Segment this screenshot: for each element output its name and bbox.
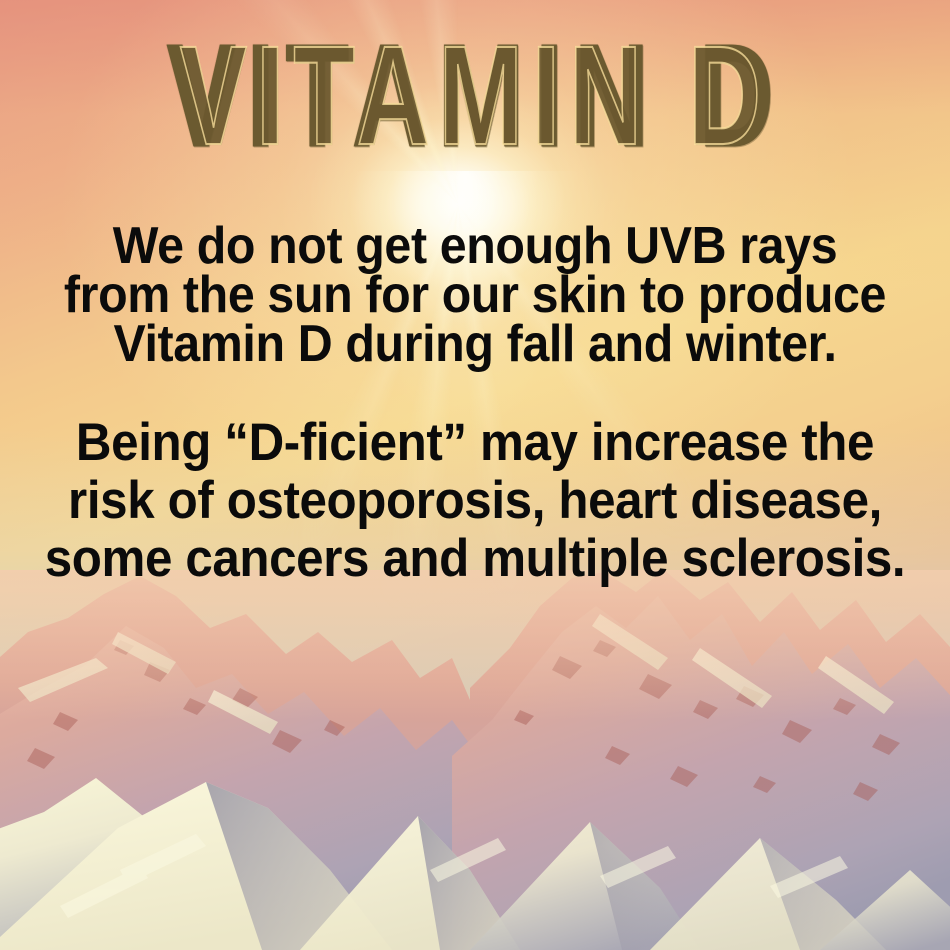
paragraph-line: Being “D-ficient” may increase the xyxy=(33,414,917,472)
page-title-text: VITAMIN D xyxy=(166,13,784,178)
paragraph-line: from the sun for our skin to produce xyxy=(33,271,917,320)
paragraph-line: some cancers and multiple sclerosis. xyxy=(33,530,917,588)
paragraph-deficiency-risks: Being “D-ficient” may increase the risk … xyxy=(33,414,917,588)
mountain-range xyxy=(0,570,950,950)
page-title: VITAMIN D VITAMIN D xyxy=(95,22,855,170)
vitamin-d-poster: VITAMIN D VITAMIN D We do not get enough… xyxy=(0,0,950,950)
paragraph-line: Vitamin D during fall and winter. xyxy=(33,320,917,369)
mountain-haze xyxy=(0,570,950,720)
paragraph-line: risk of osteoporosis, heart disease, xyxy=(33,472,917,530)
paragraph-line: We do not get enough UVB rays xyxy=(33,222,917,271)
paragraph-uvb-rays: We do not get enough UVB rays from the s… xyxy=(33,222,917,369)
